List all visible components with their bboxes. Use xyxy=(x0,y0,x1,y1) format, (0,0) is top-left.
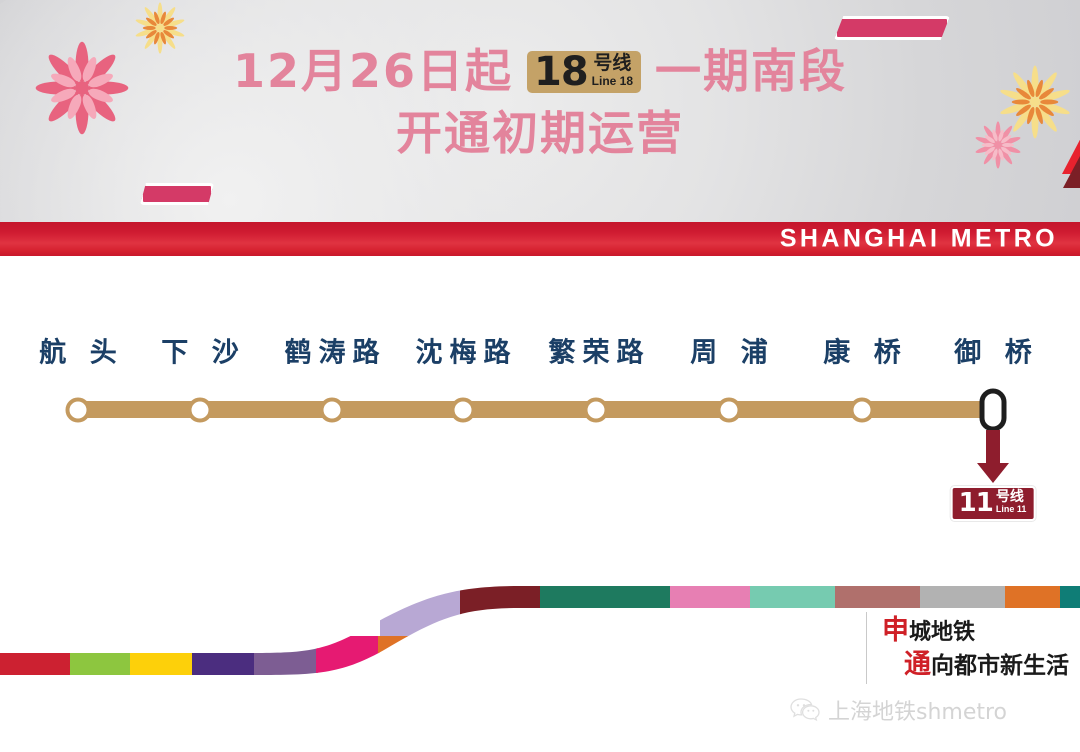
station-name: 周 浦 xyxy=(683,331,774,370)
slogan: 申城地铁 通向都市新生活 xyxy=(882,614,1069,682)
station-name: 沈梅路 xyxy=(409,331,518,370)
ribbon-segment-lower xyxy=(502,636,566,686)
decor-parallelogram-left xyxy=(140,183,214,205)
transfer-arrow-down xyxy=(986,430,1000,464)
ribbon-segment-upper xyxy=(380,576,462,636)
slogan-accent-1: 申 xyxy=(882,615,909,646)
line-18-badge: 18 号线 Line 18 xyxy=(527,51,641,94)
title-segment-suffix: 一期南段 xyxy=(655,48,847,94)
brand-band: SHANGHAI METRO xyxy=(0,222,1080,256)
station-marker-transfer[interactable] xyxy=(980,389,1007,432)
title-line-1: 12月26日起 18 号线 Line 18 一期南段 xyxy=(0,48,1080,94)
line-11-en: Line 11 xyxy=(996,505,1027,515)
ribbon-segment-lower xyxy=(70,636,132,686)
wechat-watermark: 上海地铁shmetro xyxy=(790,694,1007,726)
decor-parallelogram-right xyxy=(834,16,950,40)
poster-root: 12月26日起 18 号线 Line 18 一期南段 开通初期运营 SHANGH… xyxy=(0,0,1080,752)
firework-petal xyxy=(143,26,156,30)
station-name: 鹤涛路 xyxy=(278,331,387,370)
watermark-text: 上海地铁shmetro xyxy=(828,694,1007,726)
decor-triangle-darkred xyxy=(1063,156,1080,188)
slogan-rest-1: 城地铁 xyxy=(909,620,975,645)
station-name: 航 头 xyxy=(32,331,123,370)
title-subline: 开通初期运营 xyxy=(396,110,684,156)
brand-band-text: SHANGHAI METRO xyxy=(780,225,1058,254)
station-marker[interactable] xyxy=(850,398,875,423)
ribbon-segment-lower xyxy=(130,636,194,686)
station-name: 繁荣路 xyxy=(542,331,651,370)
ribbon-segment-lower xyxy=(254,636,318,686)
station-name: 康 桥 xyxy=(816,331,907,370)
station-name: 御 桥 xyxy=(947,331,1038,370)
station-marker[interactable] xyxy=(584,398,609,423)
wechat-icon xyxy=(790,697,820,723)
line-11-number: 11 xyxy=(959,492,993,516)
slogan-row-1: 申城地铁 xyxy=(882,614,1069,648)
station-marker[interactable] xyxy=(717,398,742,423)
line-18-en: Line 18 xyxy=(592,75,633,88)
ribbon-segment-upper xyxy=(540,576,672,636)
ribbon-segment-upper xyxy=(460,576,542,636)
slogan-rest-2: 向都市新生活 xyxy=(931,653,1069,679)
slogan-row-2: 通向都市新生活 xyxy=(904,648,1069,682)
station-marker[interactable] xyxy=(451,398,476,423)
title-line-2: 开通初期运营 xyxy=(0,110,1080,156)
line-18-cn: 号线 xyxy=(592,54,633,73)
station-marker[interactable] xyxy=(320,398,345,423)
ribbon-segment-upper xyxy=(750,576,837,636)
line-11-badge[interactable]: 11 号线 Line 11 xyxy=(951,486,1036,521)
ribbon-segment-lower xyxy=(440,636,504,686)
title-date-prefix: 12月26日起 xyxy=(233,48,513,94)
ribbon-segment-lower xyxy=(378,636,442,686)
line-11-cn: 号线 xyxy=(996,490,1027,504)
station-name: 下 沙 xyxy=(154,331,245,370)
ribbon-segment-lower xyxy=(316,636,380,686)
ribbon-segment-upper xyxy=(670,576,752,636)
slogan-accent-2: 通 xyxy=(904,649,931,680)
station-marker[interactable] xyxy=(66,398,91,423)
footer: 上海地铁 Shanghai Metro 申城地铁 通向都市新生活 上海地铁sh xyxy=(0,576,1080,752)
header-banner: 12月26日起 18 号线 Line 18 一期南段 开通初期运营 xyxy=(0,0,1080,222)
station-marker[interactable] xyxy=(188,398,213,423)
ribbon-segment-lower xyxy=(0,636,72,686)
logo-divider xyxy=(866,612,867,684)
ribbon-segment-lower xyxy=(192,636,256,686)
poster-title: 12月26日起 18 号线 Line 18 一期南段 开通初期运营 xyxy=(0,48,1080,156)
line-18-number: 18 xyxy=(534,54,588,91)
firework-core xyxy=(156,24,164,32)
line-map: 航 头下 沙鹤涛路沈梅路繁荣路周 浦康 桥御 桥 11 号线 Line 11 xyxy=(0,256,1080,576)
